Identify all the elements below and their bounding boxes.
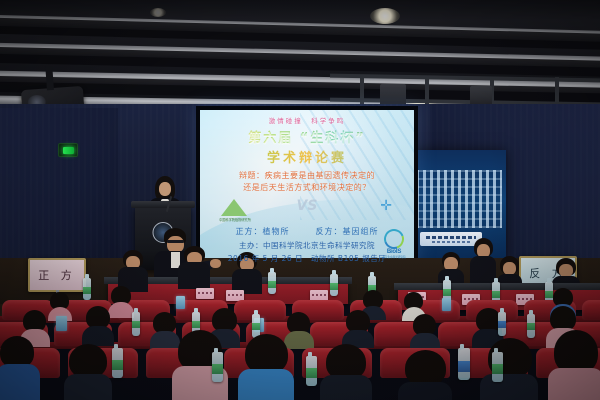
water-bottle xyxy=(212,352,223,382)
audience-shoulders xyxy=(64,374,112,400)
plant-institute-logo-icon: 中国科学院植物研究所 xyxy=(218,197,252,223)
water-bottle xyxy=(458,348,470,380)
judge xyxy=(118,250,148,290)
audience-shoulders xyxy=(320,375,372,400)
water-bottle xyxy=(330,274,338,296)
audience-member xyxy=(238,334,294,400)
seat xyxy=(582,300,600,320)
audience-member xyxy=(480,338,538,400)
slide-topic-line1: 辩题：疾病主要是由基因遗传决定的 xyxy=(206,170,408,182)
water-bottle xyxy=(306,356,317,386)
water-bottle xyxy=(132,312,140,336)
audience-member xyxy=(398,350,452,400)
water-bottle xyxy=(268,272,276,294)
audience-head xyxy=(245,334,288,374)
water-bottle xyxy=(492,352,503,382)
audience-shoulders xyxy=(548,368,600,400)
smartphone-screen xyxy=(56,316,67,331)
placard-affirmative: 正 方 xyxy=(28,258,86,292)
ceiling-light xyxy=(370,8,400,24)
water-bottle xyxy=(527,314,535,338)
audience-member xyxy=(0,336,40,400)
truss-post xyxy=(555,77,559,105)
audience-member xyxy=(320,344,372,400)
slide-topic-line2: 还是后天生活方式和环境决定的？ xyxy=(206,182,408,194)
podium-top xyxy=(131,201,195,208)
biols-logo-icon: BioIS 北京生命科学研究院 xyxy=(379,229,409,259)
name-card xyxy=(196,288,214,299)
audience-shoulders xyxy=(398,382,452,400)
audience-shoulders xyxy=(238,369,294,400)
water-bottle xyxy=(112,348,123,378)
slide-side-negative: 反方：基因组所 xyxy=(316,226,379,237)
slide-tagline: 激情碰撞 科学争鸣 xyxy=(200,115,414,125)
judge-body xyxy=(178,262,210,289)
ceiling-light xyxy=(150,8,166,17)
ceiling xyxy=(0,0,600,112)
truss-post xyxy=(425,77,429,105)
audience-member xyxy=(548,330,600,400)
slide-title-line1: 第六届 “生科杯” xyxy=(200,127,414,146)
audience-member xyxy=(82,306,114,344)
genomics-institute-logo-icon: ✛ xyxy=(380,198,392,214)
audience-head xyxy=(405,350,446,386)
water-bottle xyxy=(83,278,91,300)
placard-affirmative-label: 正 方 xyxy=(38,267,76,283)
presenter-face xyxy=(159,182,171,196)
slide-side-affirmative: 正方：植物所 xyxy=(236,226,290,237)
slide-title-line2: 学术辩论赛 xyxy=(200,147,414,166)
audience-shoulders xyxy=(480,374,538,400)
audience-member xyxy=(342,310,374,346)
audience-head xyxy=(69,344,107,378)
sponsor-logo-sub: 北京生命科学研究院 xyxy=(379,255,409,259)
smartphone-screen xyxy=(442,298,451,311)
audience-shoulders xyxy=(82,326,114,346)
truss-post xyxy=(360,77,364,105)
audience-member xyxy=(64,344,112,400)
exit-sign-icon xyxy=(58,143,78,157)
vs-label: VS xyxy=(297,198,318,214)
lecture-hall-photo: 激情碰撞 科学争鸣 第六届 “生科杯” 学术辩论赛 辩题：疾病主要是由基因遗传决… xyxy=(0,0,600,400)
truss-rail xyxy=(330,74,600,83)
slide-versus-row: 中国科学院植物研究所 VS ✛ xyxy=(200,196,414,226)
seat xyxy=(234,300,286,320)
projection-screen: 激情碰撞 科学争鸣 第六届 “生科杯” 学术辩论赛 辩题：疾病主要是由基因遗传决… xyxy=(200,110,414,262)
audience-member xyxy=(48,292,72,318)
smartphone-screen xyxy=(176,296,185,309)
logo-triangle-shape xyxy=(221,199,247,216)
water-bottle xyxy=(498,312,506,336)
projection-screen-frame: 激情碰撞 科学争鸣 第六届 “生科杯” 学术辩论赛 辩题：疾病主要是由基因遗传决… xyxy=(196,106,418,266)
left-logo-caption: 中国科学院植物研究所 xyxy=(218,217,252,222)
debater-glasses-icon xyxy=(167,240,184,243)
audience-member xyxy=(410,314,440,348)
audience-shoulders xyxy=(0,364,40,400)
